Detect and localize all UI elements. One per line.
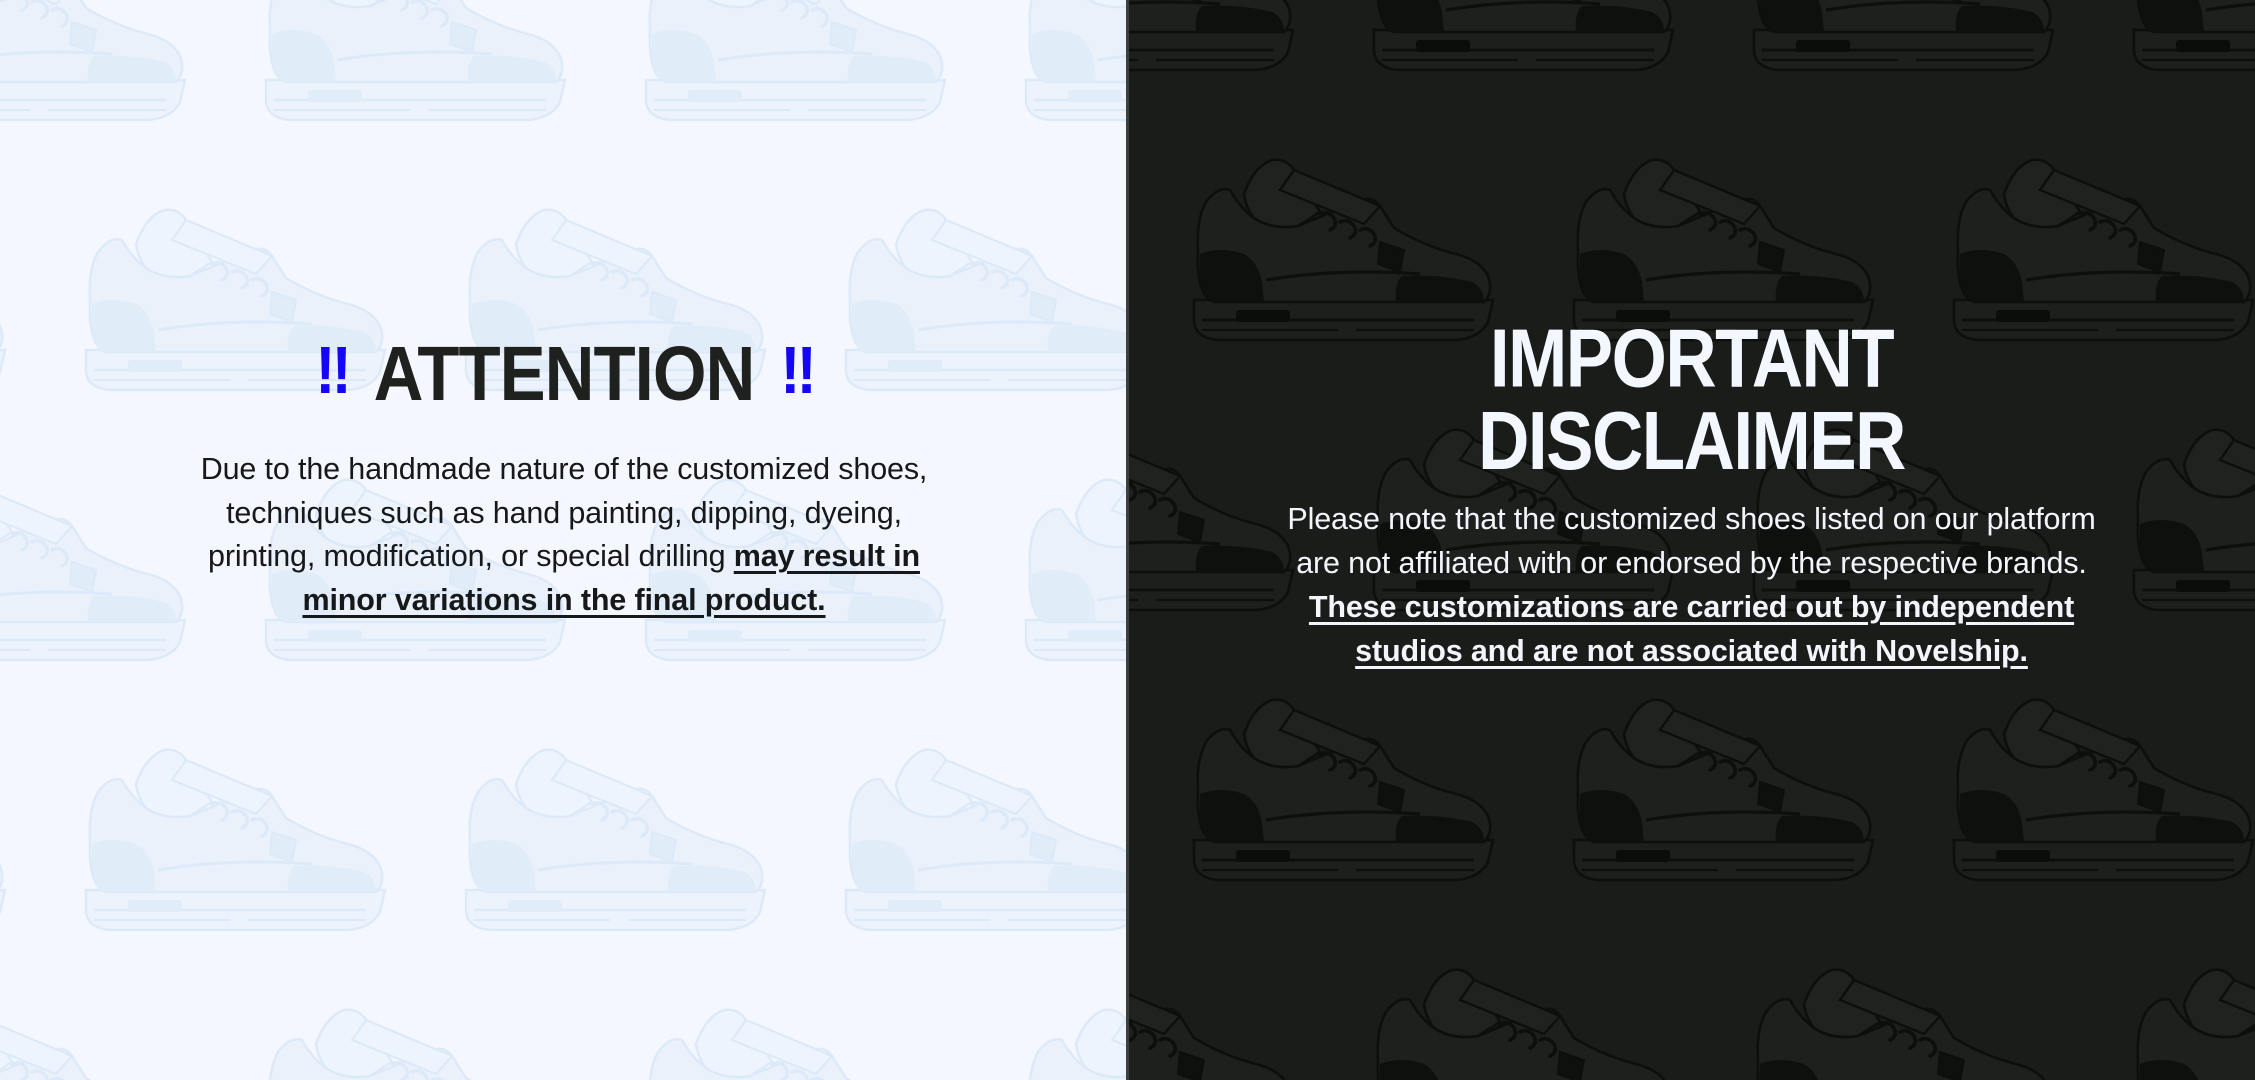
attention-heading-text: ATTENTION (374, 336, 755, 412)
disclaimer-body-normal: Please note that the customized shoes li… (1287, 502, 2095, 580)
disclaimer-heading-line2: DISCLAIMER (1478, 400, 1905, 482)
attention-heading: ‼ ATTENTION ‼ (315, 336, 812, 412)
disclaimer-body-emphasis: These customizations are carried out by … (1309, 590, 2074, 668)
attention-content: ‼ ATTENTION ‼ Due to the handmade nature… (0, 0, 1128, 623)
panel-divider (1126, 0, 1129, 1080)
disclaimer-body: Please note that the customized shoes li… (1287, 498, 2097, 674)
attention-panel: ‼ ATTENTION ‼ Due to the handmade nature… (0, 0, 1128, 1080)
disclaimer-content: IMPORTANT DISCLAIMER Please note that th… (1128, 0, 2255, 674)
double-exclamation-icon-right: ‼ (780, 339, 812, 405)
disclaimer-heading-line1: IMPORTANT (1490, 318, 1893, 400)
double-exclamation-icon-left: ‼ (315, 339, 347, 405)
notice-banner: ‼ ATTENTION ‼ Due to the handmade nature… (0, 0, 2255, 1080)
attention-body: Due to the handmade nature of the custom… (169, 448, 959, 624)
disclaimer-heading: IMPORTANT DISCLAIMER (1478, 318, 1905, 483)
disclaimer-panel: IMPORTANT DISCLAIMER Please note that th… (1128, 0, 2255, 1080)
